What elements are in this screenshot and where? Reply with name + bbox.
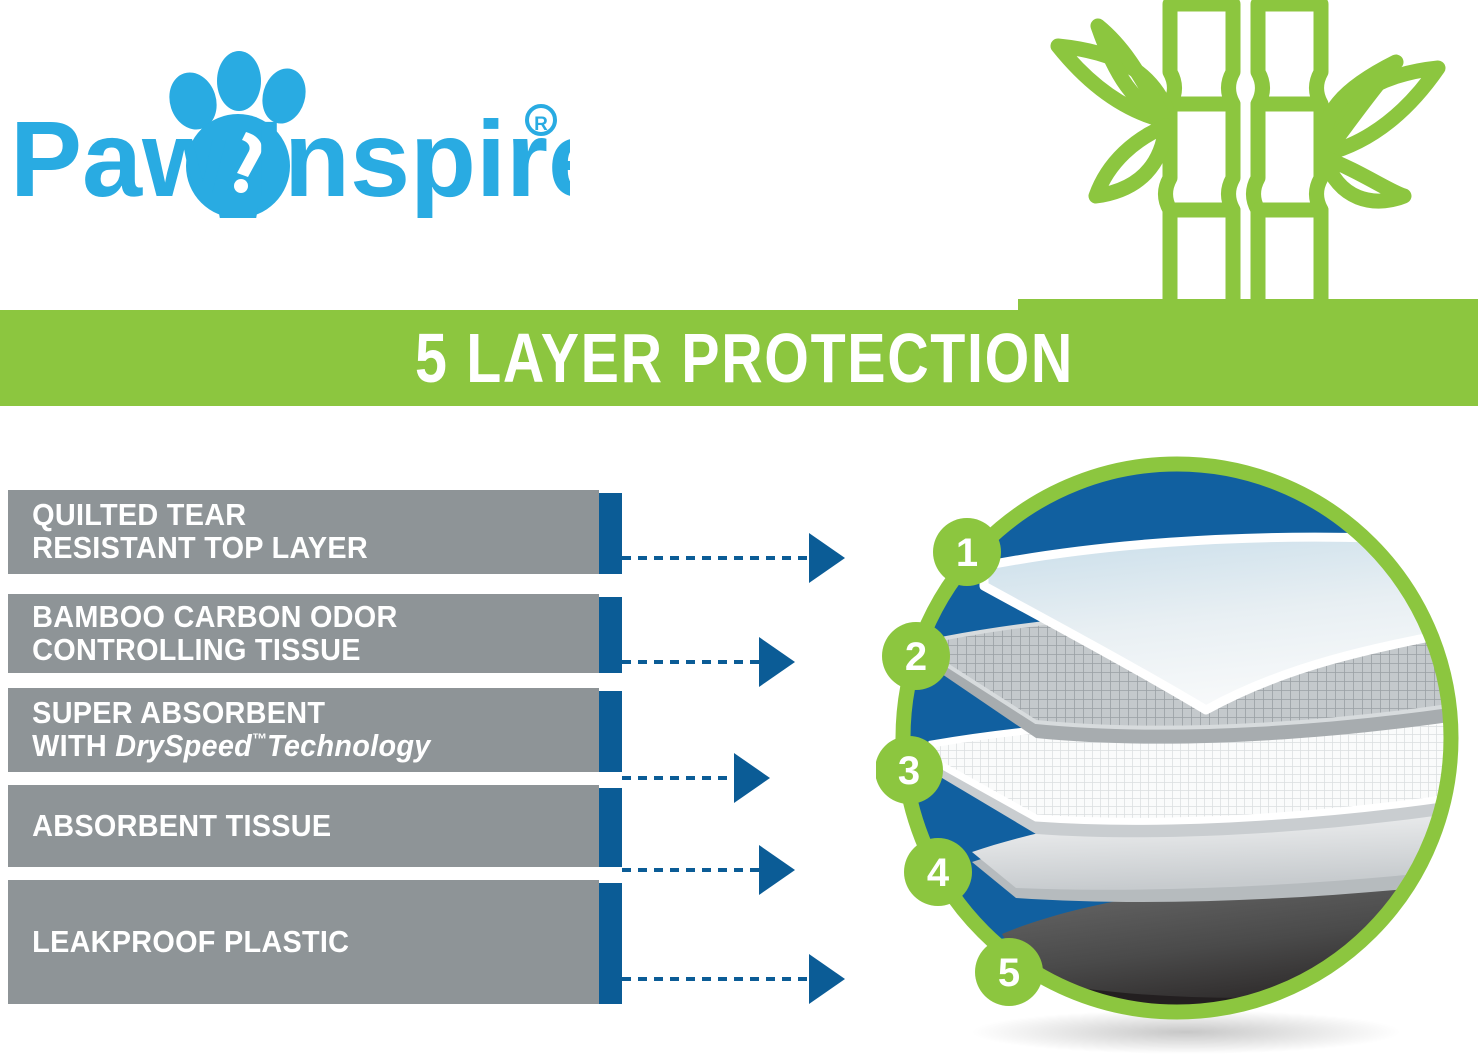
layer-badge-1: 1 [933,518,1001,586]
layer-badge-2: 2 [882,622,950,690]
connector-arrow-3 [622,770,770,786]
brand-logo: Paw Inspired R [10,48,570,218]
connector-arrow-4 [622,862,795,878]
bar-accent-tab [599,594,622,673]
bar-accent-tab [599,785,622,867]
layer-label-text-5: LEAKPROOF PLASTIC [8,926,349,959]
svg-text:3: 3 [898,749,920,793]
svg-text:4: 4 [927,851,950,895]
bamboo-stalks-icon [1018,0,1478,316]
svg-text:R: R [534,114,548,135]
layer-label-bar-1: QUILTED TEAR RESISTANT TOP LAYER [8,490,622,574]
layer-label-text-1: QUILTED TEAR RESISTANT TOP LAYER [8,499,368,565]
layer-label-bar-3: SUPER ABSORBENTWITH DrySpeed™Technology [8,688,622,772]
layer-label-text-3: SUPER ABSORBENTWITH DrySpeed™Technology [8,697,431,763]
svg-text:2: 2 [905,635,927,679]
layer-badge-3: 3 [876,736,943,804]
svg-text:5: 5 [998,951,1020,995]
bar-accent-tab [599,880,622,1004]
connector-arrow-2 [622,654,795,670]
layer-label-bar-2: BAMBOO CARBON ODOR CONTROLLING TISSUE [8,594,622,673]
infographic-page: Paw Inspired R [0,0,1478,1059]
bamboo-decoration [1018,0,1478,316]
connector-arrow-5 [622,971,845,987]
layer-label-text-2: BAMBOO CARBON ODOR CONTROLLING TISSUE [8,601,398,667]
bar-accent-tab [599,688,622,772]
logo-wordmark-inspired: Inspired [254,98,570,218]
bar-accent-tab [599,490,622,574]
layer-label-bar-5: LEAKPROOF PLASTIC [8,880,622,1004]
logo-wordmark-paw: Paw [10,98,227,218]
section-banner: 5 LAYER PROTECTION [0,310,1478,406]
layer-label-text-4: ABSORBENT TISSUE [8,810,331,843]
layer-badge-4: 4 [904,838,972,906]
svg-text:1: 1 [956,531,978,575]
connector-arrow-1 [622,550,845,566]
page-title: 5 LAYER PROTECTION [404,323,1074,393]
five-layer-cutaway-illustration: 1 2 3 4 5 [876,438,1478,1056]
layer-label-bar-4: ABSORBENT TISSUE [8,785,622,867]
layer-badge-5: 5 [975,938,1043,1006]
